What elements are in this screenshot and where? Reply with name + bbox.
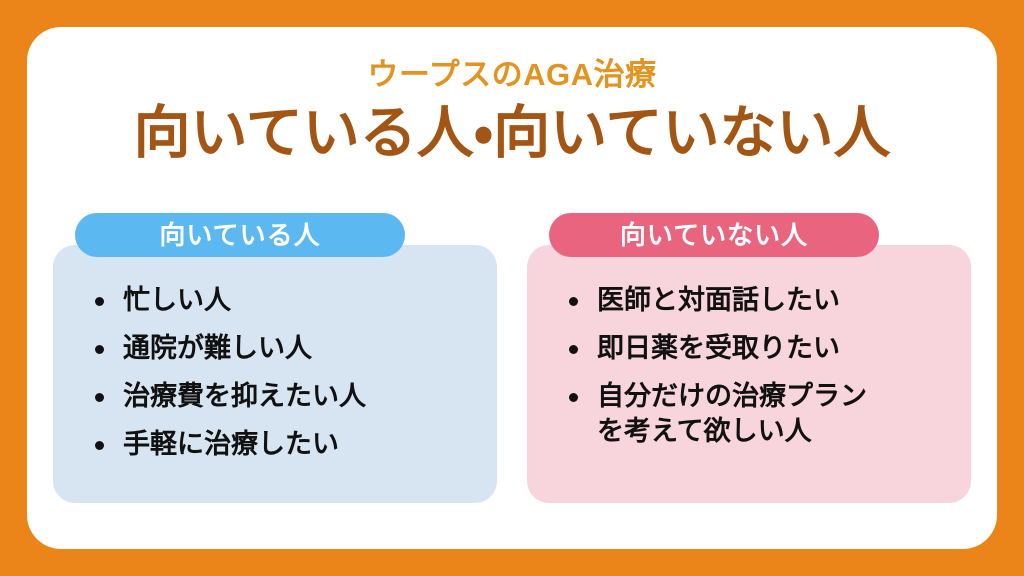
list-item-label: 医師と対面話したい [597, 283, 957, 318]
orange-frame: ウープスのAGA治療 向いている人・向いていない人 忙しい人 通院が難しい人 [0, 0, 1024, 576]
heading-block: ウープスのAGA治療 向いている人・向いていない人 [27, 27, 997, 167]
list-item: 治療費を抑えたい人 [93, 379, 483, 414]
list-item: 医師と対面話したい [567, 283, 957, 318]
panel-not-suited: 医師と対面話したい 即日薬を受取りたい 自分だけの治療プラン を考えて欲しい人 [527, 245, 971, 503]
panel-suited: 忙しい人 通院が難しい人 治療費を抑えたい人 手軽に治療したい [53, 245, 497, 503]
bullet-icon [569, 345, 578, 354]
bullet-icon [95, 393, 104, 402]
bullet-icon [569, 393, 578, 402]
list-not-suited: 医師と対面話したい 即日薬を受取りたい 自分だけの治療プラン を考えて欲しい人 [541, 283, 957, 449]
list-item-label: 治療費を抑えたい人 [123, 379, 483, 414]
list-item: 通院が難しい人 [93, 331, 483, 366]
page-title: 向いている人・向いていない人 [27, 92, 997, 167]
list-suited: 忙しい人 通院が難しい人 治療費を抑えたい人 手軽に治療したい [67, 283, 483, 462]
subtitle: ウープスのAGA治療 [27, 27, 997, 92]
list-item-label: 手軽に治療したい [123, 427, 483, 462]
list-item-label: 自分だけの治療プラン を考えて欲しい人 [597, 379, 957, 449]
bullet-icon [95, 297, 104, 306]
comparison-columns: 忙しい人 通院が難しい人 治療費を抑えたい人 手軽に治療したい [27, 213, 997, 523]
header-pill-not-suited: 向いていない人 [549, 213, 879, 257]
header-pill-suited: 向いている人 [75, 213, 405, 257]
bullet-icon [95, 441, 104, 450]
column-not-suited: 医師と対面話したい 即日薬を受取りたい 自分だけの治療プラン を考えて欲しい人 [527, 213, 971, 523]
list-item: 自分だけの治療プラン を考えて欲しい人 [567, 379, 957, 449]
column-suited: 忙しい人 通院が難しい人 治療費を抑えたい人 手軽に治療したい [53, 213, 497, 523]
list-item-line2: を考えて欲しい人 [597, 414, 957, 449]
bullet-icon [569, 297, 578, 306]
list-item-label: 通院が難しい人 [123, 331, 483, 366]
bullet-icon [95, 345, 104, 354]
content-card: ウープスのAGA治療 向いている人・向いていない人 忙しい人 通院が難しい人 [27, 27, 997, 549]
list-item-label: 忙しい人 [123, 283, 483, 318]
list-item-line1: 自分だけの治療プラン [597, 381, 867, 411]
list-item: 忙しい人 [93, 283, 483, 318]
list-item: 即日薬を受取りたい [567, 331, 957, 366]
list-item: 手軽に治療したい [93, 427, 483, 462]
list-item-label: 即日薬を受取りたい [597, 331, 957, 366]
